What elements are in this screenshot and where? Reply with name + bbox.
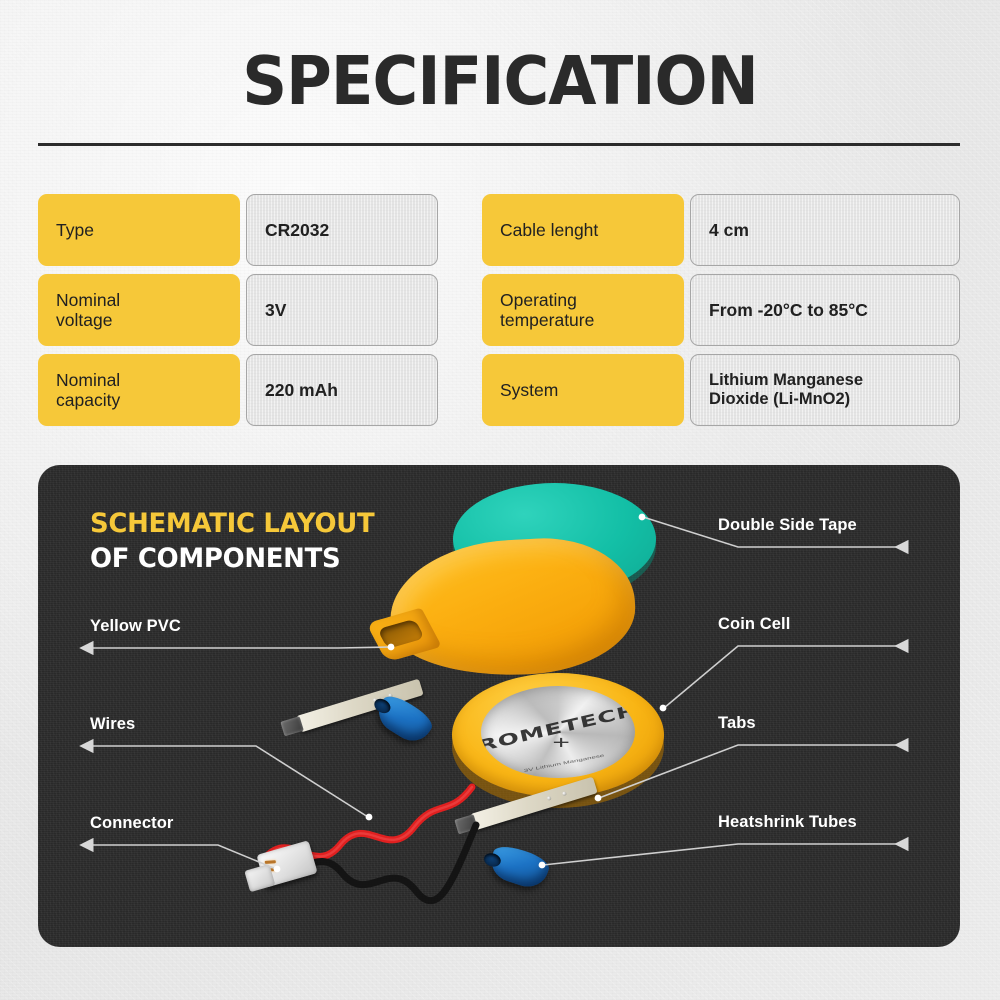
spec-value-nominal-capacity: 220 mAh [246,354,438,426]
spec-value-nominal-voltage: 3V [246,274,438,346]
spec-label-nominal-voltage: Nominal voltage [38,274,240,346]
callout-label-double-side-tape: Double Side Tape [718,516,857,535]
callout-label-heatshrink-tubes: Heatshrink Tubes [718,813,857,832]
spec-label-nominal-capacity: Nominal capacity [38,354,240,426]
spec-value-system: Lithium Manganese Dioxide (Li-MnO2) [690,354,960,426]
spec-label-operating-temperature: Operating temperature [482,274,684,346]
spec-value-cable-length: 4 cm [690,194,960,266]
callout-label-coin-cell: Coin Cell [718,615,790,634]
callout-label-wires: Wires [90,715,135,734]
specification-table: Type CR2032 Cable lenght 4 cm Nominal vo… [38,194,960,426]
callout-label-connector: Connector [90,814,173,833]
spec-label-type: Type [38,194,240,266]
callout-label-tabs: Tabs [718,714,756,733]
schematic-heading-line2: OF COMPONENTS [90,542,374,577]
spec-value-type: CR2032 [246,194,438,266]
schematic-heading: SCHEMATIC LAYOUT OF COMPONENTS [90,507,374,576]
title-divider [38,143,960,146]
spec-label-system: System [482,354,684,426]
page-title: SPECIFICATION [35,48,965,115]
spec-value-operating-temperature: From -20°C to 85°C [690,274,960,346]
spec-label-cable-length: Cable lenght [482,194,684,266]
infographic-page: SPECIFICATION Type CR2032 Cable lenght 4… [0,0,1000,1000]
schematic-panel: SCHEMATIC LAYOUT OF COMPONENTS ROMETECH … [38,465,960,947]
schematic-heading-line1: SCHEMATIC LAYOUT [90,507,374,542]
callout-label-yellow-pvc: Yellow PVC [90,617,181,636]
